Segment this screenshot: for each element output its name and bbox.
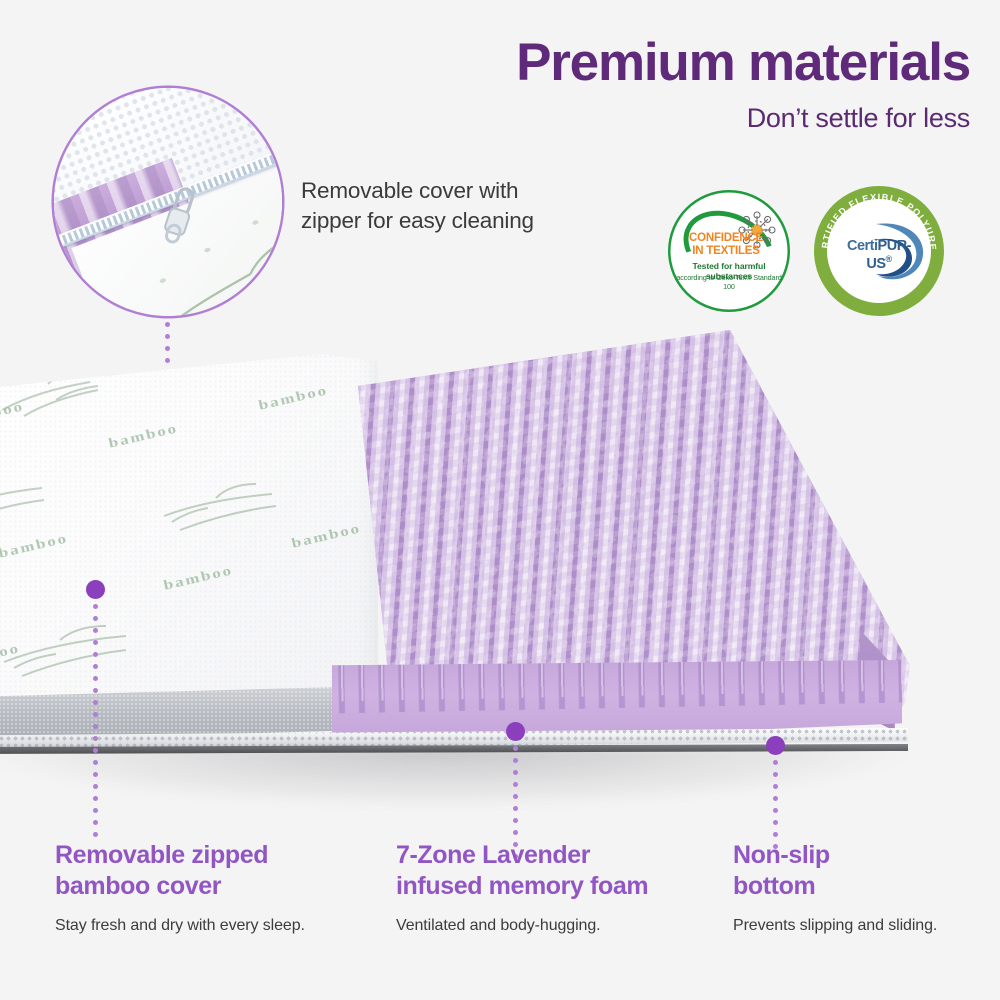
product-image: bamboo bamboo bamboo bamboo bamboo bambo… <box>0 330 940 770</box>
page-subtitle: Don’t settle for less <box>516 103 970 134</box>
page-title: Premium materials <box>516 36 970 89</box>
oeko-tex-badge-icon: CONFIDENCEIN TEXTILES Tested for harmful… <box>668 190 790 312</box>
connector-dot-memory-foam <box>506 722 525 741</box>
certipur-us-badge-icon: CONTAINS CERTIFIED FLEXIBLE POLYURETHANE… <box>814 186 944 316</box>
zipper-detail-inset-image <box>54 88 282 316</box>
infographic-canvas: Premium materials Don’t settle for less <box>0 0 1000 1000</box>
connector-dot-bamboo-cover <box>86 580 105 599</box>
feature-heading: 7-Zone Lavenderinfused memory foam <box>396 840 716 901</box>
feature-heading: Removable zippedbamboo cover <box>55 840 365 901</box>
connector-dot-non-slip <box>766 736 785 755</box>
feature-description: Ventilated and body-hugging. <box>396 917 716 935</box>
feature-7-zone-lavender-memory-foam: 7-Zone Lavenderinfused memory foam Venti… <box>396 840 716 935</box>
feature-non-slip-bottom: Non-slipbottom Prevents slipping and sli… <box>733 840 983 935</box>
bamboo-leaf-icon <box>160 482 280 534</box>
zipper-callout-text: Removable cover withzipper for easy clea… <box>301 176 601 235</box>
oeko-confidence-label: CONFIDENCEIN TEXTILES <box>684 232 768 258</box>
bamboo-cover-top-surface: bamboo bamboo bamboo bamboo bamboo bambo… <box>0 354 378 726</box>
certipur-wordmark: CertiPUR-US® <box>840 238 918 272</box>
feature-heading: Non-slipbottom <box>733 840 983 901</box>
feature-description: Stay fresh and dry with every sleep. <box>55 917 365 935</box>
bamboo-leaf-icon <box>0 370 108 418</box>
feature-description: Prevents slipping and sliding. <box>733 917 983 935</box>
oeko-standard-label: according to Oeko-Tex® Standard 100 <box>672 273 786 291</box>
bamboo-leaf-icon <box>0 480 48 524</box>
bamboo-leaf-icon <box>0 622 130 678</box>
feature-removable-zipped-bamboo-cover: Removable zippedbamboo cover Stay fresh … <box>55 840 365 935</box>
certification-badges: CONFIDENCEIN TEXTILES Tested for harmful… <box>668 186 968 311</box>
feature-list: Removable zippedbamboo cover Stay fresh … <box>0 840 1000 980</box>
connector-line-bamboo-cover <box>93 604 98 844</box>
header-block: Premium materials Don’t settle for less <box>516 36 970 134</box>
